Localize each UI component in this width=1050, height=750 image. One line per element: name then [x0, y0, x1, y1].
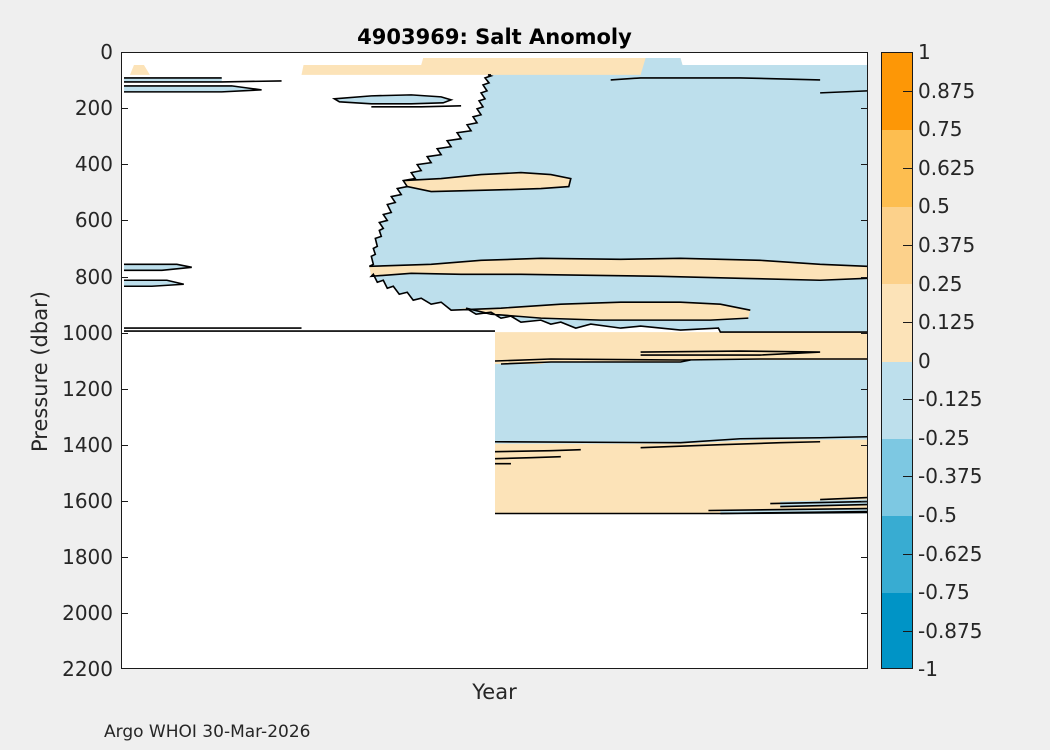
colorbar-label-075: 0.75 — [918, 117, 963, 141]
colorbar-label-n05: -0.5 — [918, 503, 957, 527]
ytick-mark-1800 — [121, 557, 128, 558]
ytick-mark-right-2000 — [861, 613, 868, 614]
chart-title: 4903969: Salt Anomoly — [121, 25, 868, 49]
ytick-label-2200: 2200 — [13, 657, 113, 681]
ytick-mark-right-600 — [861, 220, 868, 221]
ytick-mark-right-1400 — [861, 445, 868, 446]
colorbar-tick-n0875 — [903, 631, 912, 632]
colorbar-tick-n0625 — [903, 554, 912, 555]
ytick-mark-right-1600 — [861, 501, 868, 502]
figure-canvas: 4903969: Salt Anomoly — [0, 0, 1050, 750]
ytick-label-800: 800 — [13, 265, 113, 289]
no-data-step-1040 — [122, 332, 495, 668]
y-axis-label: Pressure (dbar) — [28, 291, 52, 452]
colorbar-tick-0125 — [903, 322, 912, 323]
ytick-mark-200 — [121, 108, 128, 109]
contour-plot-svg — [122, 53, 867, 668]
ytick-mark-right-1200 — [861, 389, 868, 390]
ytick-mark-right-1000 — [861, 333, 868, 334]
colorbar-tick-n0375 — [903, 476, 912, 477]
ytick-mark-right-1800 — [861, 557, 868, 558]
plot-axes — [121, 52, 868, 669]
colorbar-tick-0375 — [903, 245, 912, 246]
region-negative-deep-band — [495, 360, 867, 444]
ytick-mark-right-200 — [861, 108, 868, 109]
y-axis-ticks: 0 200 400 600 800 1000 1200 1400 1600 18… — [10, 0, 113, 750]
ytick-mark-right-800 — [861, 277, 868, 278]
ytick-label-600: 600 — [13, 208, 113, 232]
ytick-label-1800: 1800 — [13, 545, 113, 569]
colorbar-label-1: 1 — [918, 40, 931, 64]
ytick-mark-right-400 — [861, 164, 868, 165]
ytick-mark-2000 — [121, 613, 128, 614]
colorbar-tick-0625 — [903, 168, 912, 169]
colorbar-tick-n0125 — [903, 399, 912, 400]
ytick-mark-right-0 — [861, 52, 868, 53]
colorbar-label-n0375: -0.375 — [918, 464, 982, 488]
ytick-mark-600 — [121, 220, 128, 221]
colorbar-label-0625: 0.625 — [918, 156, 975, 180]
colorbar-label-0375: 0.375 — [918, 233, 975, 257]
colorbar[interactable] — [881, 52, 913, 669]
ytick-label-0: 0 — [13, 40, 113, 64]
ytick-label-1600: 1600 — [13, 489, 113, 513]
ytick-mark-800 — [121, 277, 128, 278]
ytick-label-200: 200 — [13, 96, 113, 120]
colorbar-label-0: 0 — [918, 349, 931, 373]
colorbar-tick-0875 — [903, 91, 912, 92]
colorbar-label-0125: 0.125 — [918, 310, 975, 334]
colorbar-label-n0125: -0.125 — [918, 387, 982, 411]
ytick-mark-1600 — [121, 501, 128, 502]
ytick-mark-1000 — [121, 333, 128, 334]
ytick-label-2000: 2000 — [13, 601, 113, 625]
colorbar-label-025: 0.25 — [918, 272, 963, 296]
ytick-mark-1400 — [121, 445, 128, 446]
colorbar-label-n0875: -0.875 — [918, 619, 982, 643]
ytick-mark-1200 — [121, 389, 128, 390]
x-axis-label: Year — [121, 680, 868, 704]
contour-fill-group — [122, 53, 867, 668]
footer-credit: Argo WHOI 30-Mar-2026 — [104, 722, 310, 742]
colorbar-label-n0625: -0.625 — [918, 542, 982, 566]
colorbar-label-0875: 0.875 — [918, 79, 975, 103]
colorbar-label-n025: -0.25 — [918, 426, 970, 450]
colorbar-label-05: 0.5 — [918, 194, 950, 218]
ytick-mark-400 — [121, 164, 128, 165]
ytick-label-400: 400 — [13, 152, 113, 176]
colorbar-label-n075: -0.75 — [918, 580, 970, 604]
colorbar-label-n1: -1 — [918, 657, 938, 681]
ytick-mark-0 — [121, 52, 128, 53]
